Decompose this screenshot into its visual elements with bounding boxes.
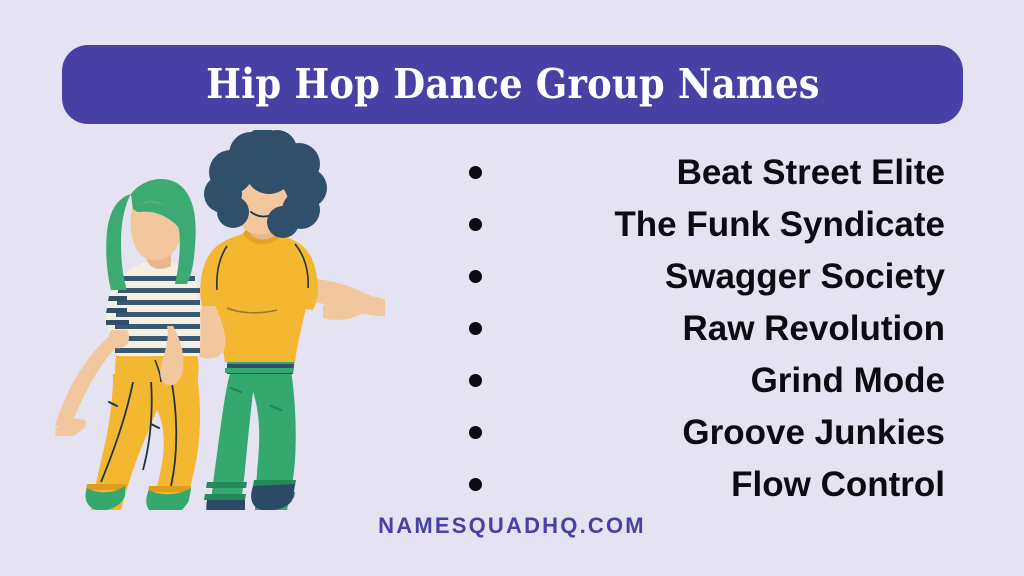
list-item-label: Flow Control bbox=[731, 467, 945, 502]
woman-legs bbox=[86, 374, 200, 510]
list-item-label: Raw Revolution bbox=[682, 311, 945, 346]
list-item: Flow Control bbox=[455, 458, 960, 510]
bullet-icon bbox=[469, 322, 482, 335]
list-item-label: Groove Junkies bbox=[682, 415, 945, 450]
bullet-icon bbox=[469, 166, 482, 179]
bullet-icon bbox=[469, 478, 482, 491]
list-item: Beat Street Elite bbox=[455, 146, 960, 198]
bullet-icon bbox=[469, 270, 482, 283]
footer: NAMESQUADHQ.COM bbox=[0, 513, 1024, 539]
bullet-icon bbox=[469, 218, 482, 231]
list-item: The Funk Syndicate bbox=[455, 198, 960, 250]
woman-shorts bbox=[115, 352, 199, 382]
bullet-icon bbox=[469, 374, 482, 387]
poster-canvas: Hip Hop Dance Group Names bbox=[0, 0, 1024, 576]
list-item: Raw Revolution bbox=[455, 302, 960, 354]
list-item: Swagger Society bbox=[455, 250, 960, 302]
two-dancers-illustration bbox=[55, 130, 385, 510]
site-watermark: NAMESQUADHQ.COM bbox=[378, 513, 646, 539]
list-item: Grind Mode bbox=[455, 354, 960, 406]
list-item-label: The Funk Syndicate bbox=[614, 207, 945, 242]
list-item-label: Grind Mode bbox=[751, 363, 945, 398]
list-item: Groove Junkies bbox=[455, 406, 960, 458]
names-list: Beat Street Elite The Funk Syndicate Swa… bbox=[455, 146, 960, 510]
list-item-label: Beat Street Elite bbox=[677, 155, 945, 190]
title-banner: Hip Hop Dance Group Names bbox=[62, 45, 963, 124]
bullet-icon bbox=[469, 426, 482, 439]
list-item-label: Swagger Society bbox=[665, 259, 945, 294]
page-title: Hip Hop Dance Group Names bbox=[206, 64, 820, 105]
